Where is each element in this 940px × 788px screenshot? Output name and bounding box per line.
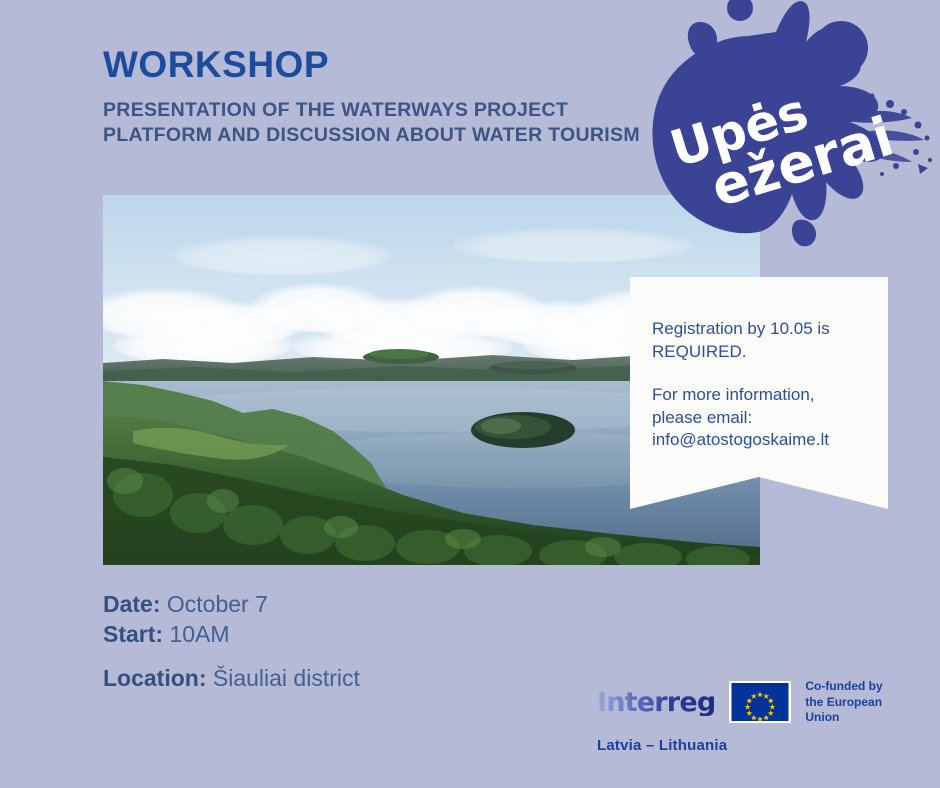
funding-logos-row: Interreg <box>597 679 917 726</box>
text-gap <box>652 363 874 384</box>
eu-funding-line-2: the European Union <box>805 695 917 726</box>
detail-start: Start: 10AM <box>103 620 623 650</box>
funding-logos: Interreg <box>597 679 917 749</box>
eu-funding-text: Co-funded by the European Union <box>805 679 917 726</box>
detail-start-value: 10AM <box>169 621 229 647</box>
registration-info-text: Registration by 10.05 is REQUIRED. For m… <box>652 318 874 452</box>
logo-line-1: Upės <box>664 82 815 178</box>
event-details: Date: October 7 Start: 10AM Location: Ši… <box>103 590 623 694</box>
detail-start-label: Start: <box>103 621 163 647</box>
registration-info-card: Registration by 10.05 is REQUIRED. For m… <box>630 277 888 509</box>
registration-line-1: Registration by 10.05 is <box>652 318 874 341</box>
detail-location-value: Šiauliai district <box>213 665 360 691</box>
eu-funding-line-1: Co-funded by <box>805 679 917 695</box>
interreg-programme-name: Latvia – Lithuania <box>597 737 917 754</box>
page-subtitle: PRESENTATION OF THE WATERWAYS PROJECT PL… <box>103 98 663 148</box>
contact-email[interactable]: info@atostogoskaime.lt <box>652 429 874 452</box>
detail-date-value: October 7 <box>167 591 268 617</box>
event-poster: WORKSHOP PRESENTATION OF THE WATERWAYS P… <box>0 0 940 788</box>
european-union-flag <box>729 681 791 723</box>
detail-date-label: Date: <box>103 591 161 617</box>
page-title: WORKSHOP <box>103 46 663 85</box>
contact-line-2: please email: <box>652 407 874 430</box>
title-block: WORKSHOP PRESENTATION OF THE WATERWAYS P… <box>103 46 663 148</box>
detail-location-label: Location: <box>103 665 207 691</box>
eu-flag-graphic <box>731 683 789 721</box>
contact-line-1: For more information, <box>652 384 874 407</box>
registration-line-2: REQUIRED. <box>652 341 874 364</box>
detail-spacer <box>103 650 623 664</box>
detail-date: Date: October 7 <box>103 590 623 620</box>
detail-location: Location: Šiauliai district <box>103 664 623 694</box>
interreg-wordmark: Interreg <box>597 689 715 716</box>
